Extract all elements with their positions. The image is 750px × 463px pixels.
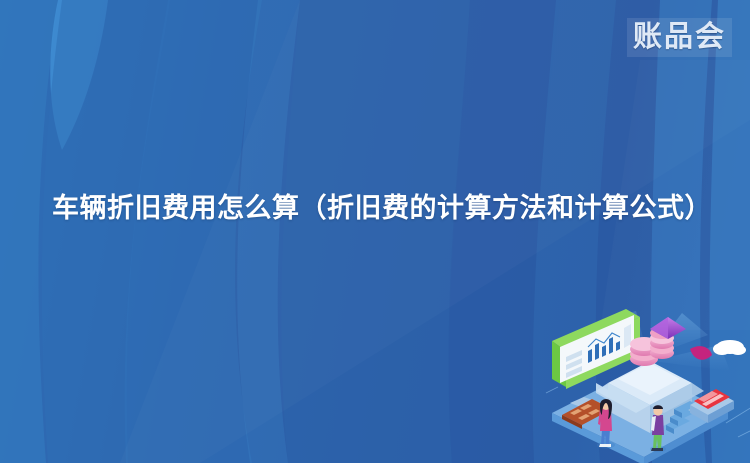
screen-highlight-bar [624, 324, 631, 348]
page-title: 车辆折旧费用怎么算（折旧费的计算方法和计算公式） [52, 190, 704, 228]
illustration-svg [540, 305, 750, 463]
cloud [713, 340, 746, 355]
site-logo[interactable]: 账品会 [627, 18, 732, 57]
illustration-finance-isometric [540, 305, 750, 463]
article-cover-banner: 账品会 车辆折旧费用怎么算（折旧费的计算方法和计算公式） [0, 0, 750, 463]
